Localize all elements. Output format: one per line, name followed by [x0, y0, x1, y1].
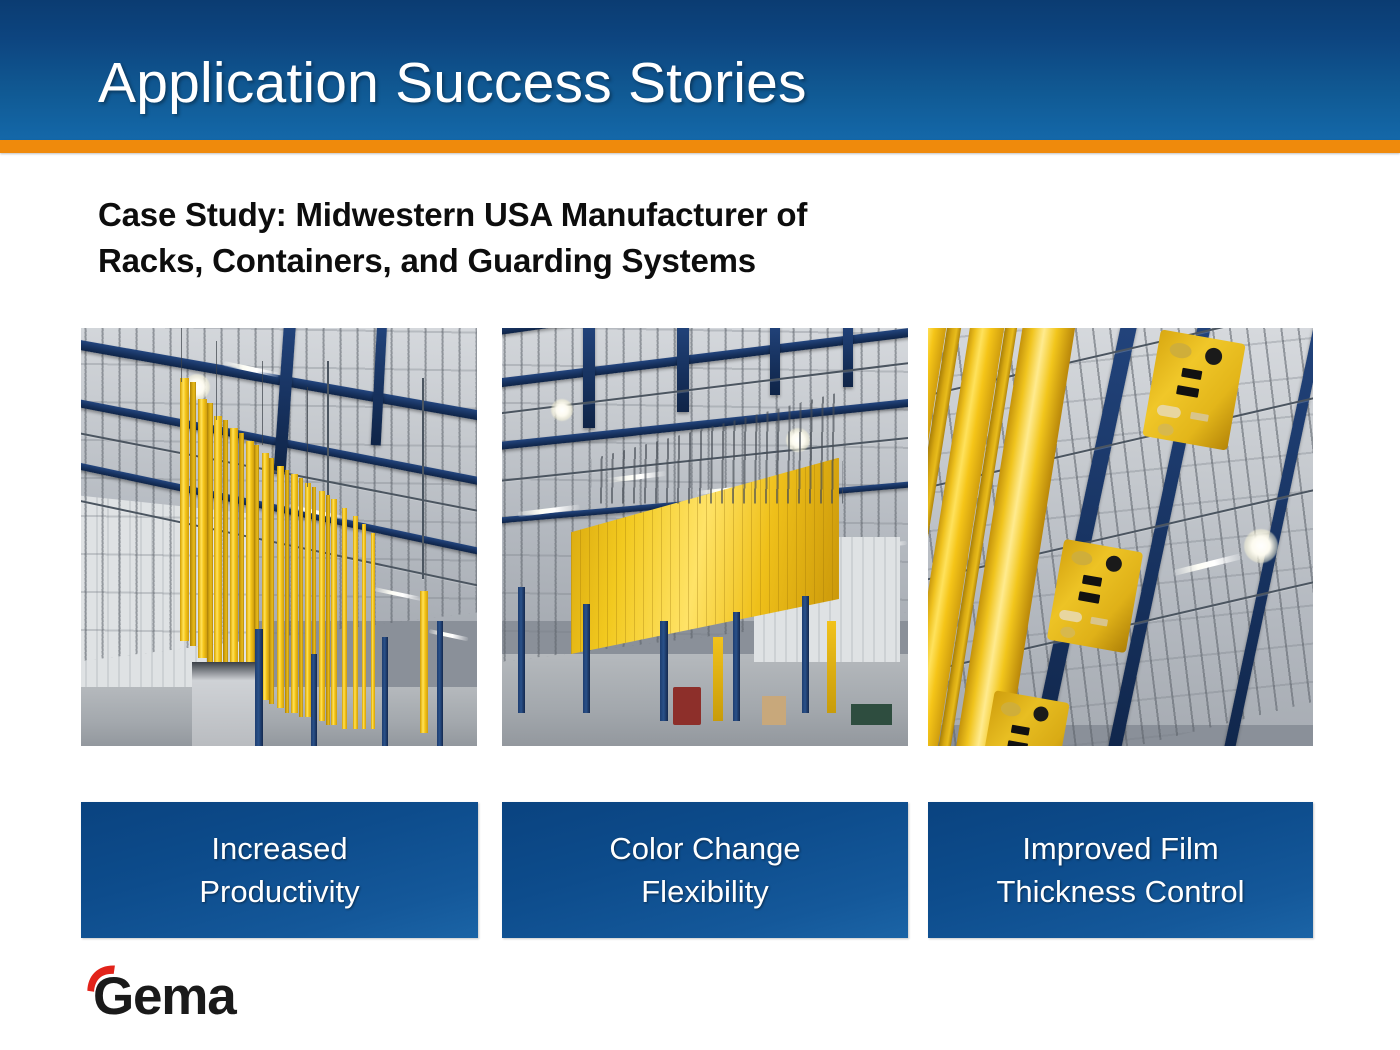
- benefit-card-increased-productivity[interactable]: Increased Productivity: [81, 802, 478, 938]
- benefit-card-line-2: Thickness Control: [996, 874, 1244, 909]
- benefit-card-improved-film-thickness-control[interactable]: Improved Film Thickness Control: [928, 802, 1313, 938]
- photo-gallery: [0, 328, 1400, 746]
- photo-hanging-yellow-rails-conveyor: [81, 328, 477, 746]
- header-accent-rule: [0, 140, 1400, 153]
- slide-header: Application Success Stories: [0, 0, 1400, 140]
- benefit-card-line-1: Improved Film: [1022, 831, 1218, 866]
- benefit-card-line-2: Productivity: [199, 874, 359, 909]
- benefit-card-color-change-flexibility[interactable]: Color Change Flexibility: [502, 802, 908, 938]
- benefit-card-label: Increased Productivity: [191, 827, 367, 913]
- case-study-heading: Case Study: Midwestern USA Manufacturer …: [98, 192, 1158, 284]
- case-study-heading-line-1: Case Study: Midwestern USA Manufacturer …: [98, 192, 1158, 238]
- caption-row: Increased Productivity Color Change Flex…: [0, 802, 1400, 938]
- benefit-card-line-2: Flexibility: [641, 874, 768, 909]
- photo-closeup-yellow-rack-beams: [928, 328, 1313, 746]
- page-title: Application Success Stories: [98, 52, 807, 114]
- benefit-card-line-1: Increased: [211, 831, 347, 866]
- gema-logo: Gema: [84, 962, 314, 1026]
- benefit-card-line-1: Color Change: [609, 831, 800, 866]
- gema-wordmark: Gema: [93, 969, 236, 1025]
- case-study-heading-line-2: Racks, Containers, and Guarding Systems: [98, 238, 1158, 284]
- photo-wide-line-of-coated-rails: [502, 328, 908, 746]
- benefit-card-label: Color Change Flexibility: [601, 827, 808, 913]
- benefit-card-label: Improved Film Thickness Control: [988, 827, 1252, 913]
